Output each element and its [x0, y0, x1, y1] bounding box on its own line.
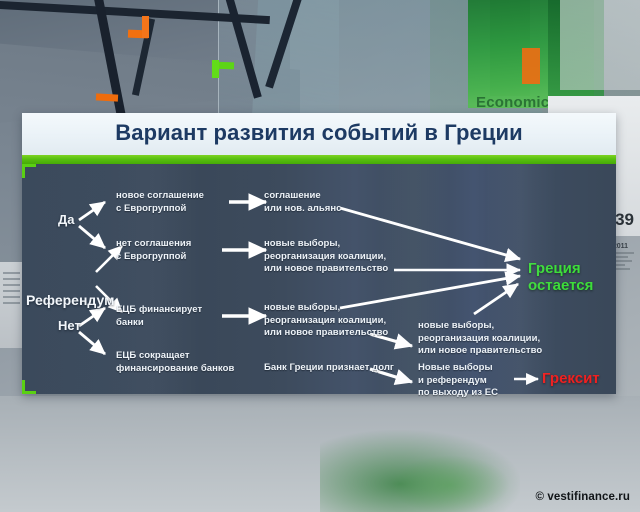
diagram-canvas: Референдум Да Нет новое соглашение с Евр… [22, 164, 616, 394]
background-orange-accent-block [522, 48, 540, 84]
diagram-node-stage2-4: Банк Греции признает долг [264, 362, 394, 375]
screenshot-stage: Economic 39 2011 Вариант развития событи… [0, 0, 640, 512]
background-bottom-green-glow-2 [390, 455, 510, 512]
diagram-node-stage1-4: ЕЦБ сокращает финансирование банков [116, 350, 234, 375]
background-economic-label: Economic [476, 94, 549, 111]
watermark: © vestifinance.ru [535, 491, 630, 503]
background-green-corner-2 [212, 60, 219, 78]
diagram-root-referendum: Референдум [26, 292, 114, 308]
slide-header: Вариант развития событий в Греции [22, 113, 616, 155]
corner-accent-top-left-v [22, 164, 25, 178]
slide-accent-bar [22, 155, 616, 164]
page-title: Вариант развития событий в Греции [115, 122, 522, 146]
diagram-node-stage2-2: новые выборы, реорганизация коалиции, ил… [264, 238, 388, 276]
background-right-number: 39 [615, 210, 634, 230]
diagram-node-stage1-3: ЕЦБ финансирует банки [116, 304, 202, 329]
diagram-branch-no: Нет [58, 318, 81, 333]
background-orange-corner-2 [142, 16, 149, 38]
diagram-node-stage1-1: новое соглашение с Еврогруппой [116, 190, 204, 215]
diagram-node-stage3-1: новые выборы, реорганизация коалиции, ил… [418, 320, 542, 358]
diagram-outcome-greece-stays: Греция остается [528, 260, 593, 294]
diagram-outcome-grexit: Грексит [542, 370, 600, 387]
diagram-node-stage2-1: соглашение или нов. альянс [264, 190, 342, 215]
diagram-node-stage3-2: Новые выборы и референдум по выходу из Е… [418, 362, 498, 400]
diagram-branch-yes: Да [58, 212, 75, 227]
corner-accent-bottom-left-v [22, 380, 25, 394]
diagram-node-stage2-3: новые выборы, реорганизация коалиции, ил… [264, 302, 388, 340]
slide-panel: Вариант развития событий в Греции [22, 113, 616, 394]
background-side-text-lines [3, 272, 20, 328]
background-white-block-upper [560, 0, 640, 90]
diagram-node-stage1-2: нет соглашения с Еврогруппой [116, 238, 191, 263]
background-orange-corner-3 [96, 93, 118, 101]
